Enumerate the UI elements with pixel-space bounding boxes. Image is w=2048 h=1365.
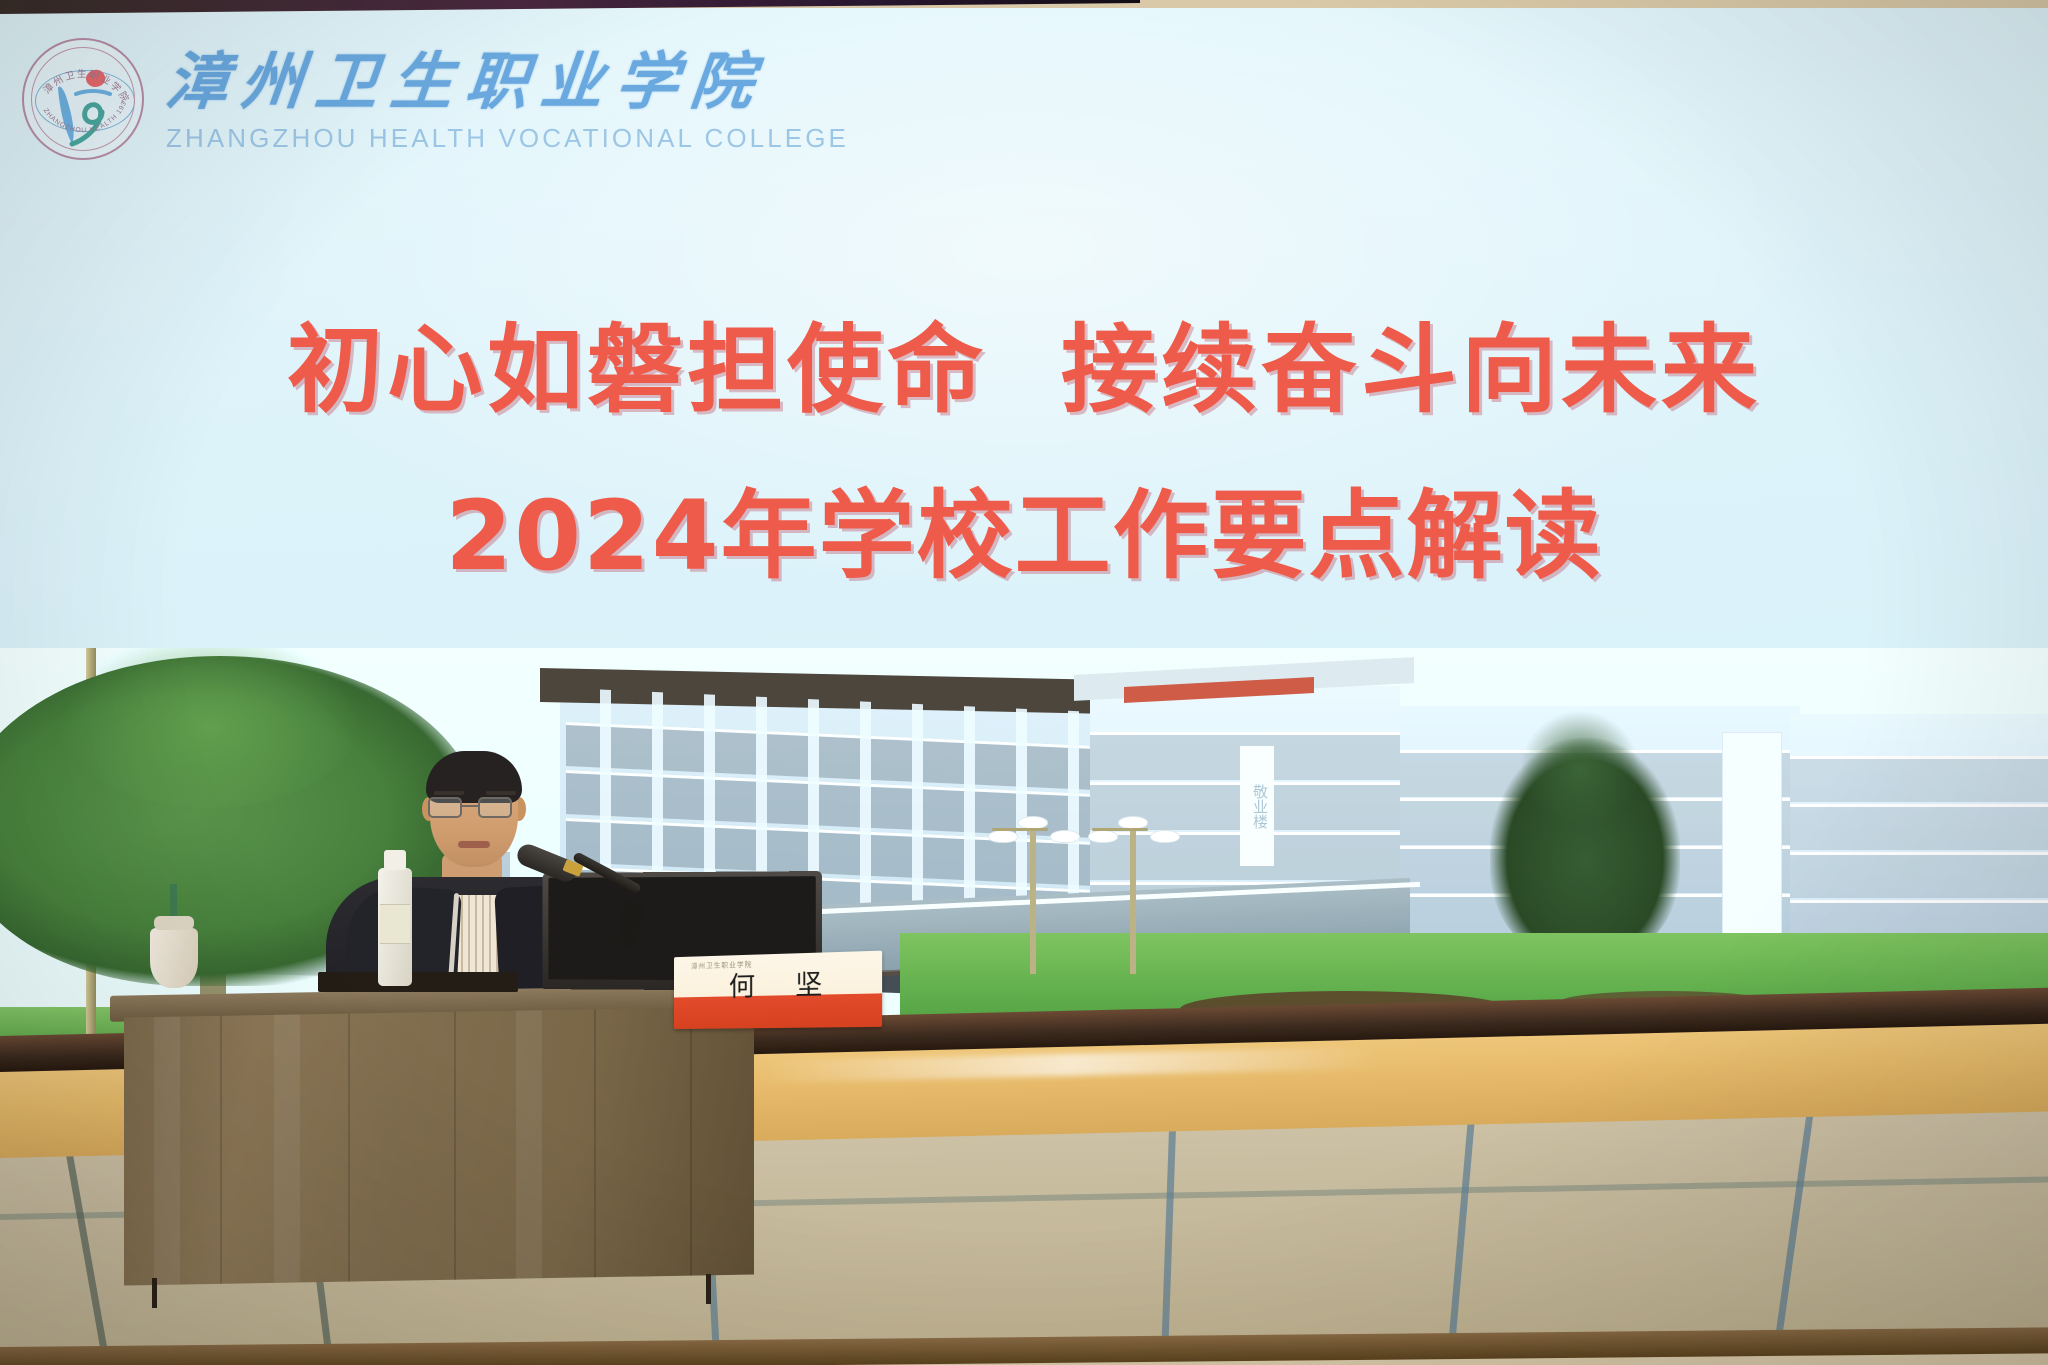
speaker-mouth [458, 841, 490, 848]
tea-cup [150, 928, 198, 988]
cup-straw [170, 884, 177, 920]
table-leg-right [706, 1274, 711, 1304]
wall-light-reflection [760, 1047, 1380, 1083]
slide-title-line-2: 2024年学校工作要点解读 [0, 458, 2048, 597]
college-seal-icon: 漳州卫生职业学院 ZHANGZHOU HEALTH 1934 VOCATIONA… [22, 38, 144, 160]
bottle-cap [384, 850, 406, 870]
stage-front-edge [0, 1327, 2048, 1365]
eyeglasses-icon [428, 797, 520, 819]
name-placard: 漳州卫生职业学院 何 坚 [674, 951, 882, 1029]
college-name-cn: 漳州卫生职业学院 [163, 51, 853, 113]
projection-screen: 漳州卫生职业学院 ZHANGZHOU HEALTH 1934 VOCATIONA… [0, 8, 2048, 1053]
slide-title-right: 接续奋斗向未来 [1061, 314, 1761, 426]
table-skirt [124, 1007, 754, 1286]
seal-arc-text-icon: 漳州卫生职业学院 ZHANGZHOU HEALTH 1934 VOCATIONA… [24, 40, 142, 158]
speaker-hair [426, 751, 522, 803]
campus-lamp-post-1 [1030, 824, 1036, 974]
cup-lid [154, 916, 194, 930]
campus-lamp-post-2 [1130, 824, 1136, 974]
svg-text:ZHANGZHOU HEALTH 1934 VOCATION: ZHANGZHOU HEALTH 1934 VOCATIONAL COLLEGE [24, 40, 128, 134]
speaker-table: 漳州卫生职业学院 何 坚 [110, 990, 770, 1290]
slide-title-left: 初心如磐担使命 [287, 314, 987, 426]
college-logo: 漳州卫生职业学院 ZHANGZHOU HEALTH 1934 VOCATIONA… [22, 38, 849, 160]
microphone [516, 852, 646, 942]
slide-title-line-1: 初心如磐担使命接续奋斗向未来 [0, 292, 2048, 431]
placard-name: 何 坚 [674, 961, 882, 1005]
bottle-label [380, 904, 410, 944]
svg-text:漳州卫生职业学院: 漳州卫生职业学院 [41, 68, 132, 106]
table-leg-left [152, 1278, 157, 1308]
building-vertical-sign: 敬业楼 [1240, 746, 1274, 866]
seal-z-monogram-icon [50, 74, 120, 148]
tray [318, 972, 518, 992]
college-name-en: ZHANGZHOU HEALTH VOCATIONAL COLLEGE [166, 123, 849, 154]
seal-flame-icon [84, 67, 107, 89]
conifer-tree-top [1520, 710, 1640, 830]
conference-stage-scene: 漳州卫生职业学院 ZHANGZHOU HEALTH 1934 VOCATIONA… [0, 0, 2048, 1365]
